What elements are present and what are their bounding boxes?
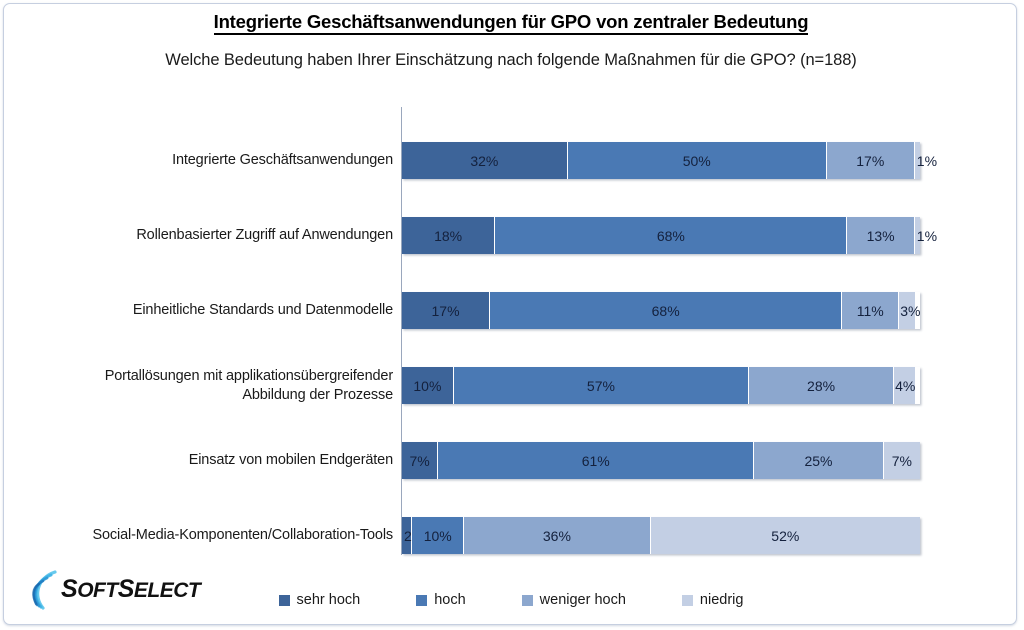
bar-segment[interactable]: 1% [915, 142, 920, 179]
chart-category-row: Integrierte Geschäftsanwendungen32%50%17… [4, 117, 1018, 192]
stacked-bar[interactable]: 10%57%28%4% [402, 367, 920, 404]
bar-value-label: 10% [413, 378, 441, 394]
category-label-line: Social-Media-Komponenten/Collaboration-T… [23, 526, 393, 545]
category-label: Einsatz von mobilen Endgeräten [23, 451, 393, 470]
bar-value-label: 3% [900, 303, 920, 319]
stacked-bar[interactable]: 17%68%11%3% [402, 292, 920, 329]
bar-value-label: 13% [867, 228, 895, 244]
bar-value-label: 7% [892, 453, 912, 469]
legend-label: sehr hoch [297, 592, 361, 608]
bar-segment[interactable]: 2% [402, 517, 412, 554]
legend-label: weniger hoch [540, 592, 626, 608]
bar-segment[interactable]: 10% [412, 517, 464, 554]
stacked-bar[interactable]: 32%50%17%1% [402, 142, 920, 179]
bar-segment[interactable]: 52% [651, 517, 920, 554]
bar-segment[interactable]: 3% [899, 292, 915, 329]
bar-segment[interactable]: 17% [402, 292, 490, 329]
legend-item[interactable]: niedrig [682, 592, 744, 608]
bar-value-label: 28% [807, 378, 835, 394]
bar-segment[interactable]: 1% [915, 217, 920, 254]
category-label-line: Portallösungen mit applikationsübergreif… [23, 367, 393, 386]
bar-segment[interactable]: 68% [490, 292, 842, 329]
bar-value-label: 25% [804, 453, 832, 469]
bar-segment[interactable]: 28% [749, 367, 894, 404]
category-label: Integrierte Geschäftsanwendungen [23, 151, 393, 170]
legend-item[interactable]: sehr hoch [279, 592, 361, 608]
logo-wordmark: SOFTSELECT [61, 575, 200, 604]
plot-area: Integrierte Geschäftsanwendungen32%50%17… [4, 4, 1018, 626]
chart-category-row: Einsatz von mobilen Endgeräten7%61%25%7% [4, 417, 1018, 492]
bar-segment[interactable]: 17% [827, 142, 915, 179]
chart-category-row: Einheitliche Standards und Datenmodelle1… [4, 267, 1018, 342]
bar-segment[interactable]: 18% [402, 217, 495, 254]
legend-swatch-icon [416, 595, 427, 606]
bar-segment[interactable]: 7% [402, 442, 438, 479]
bar-segment[interactable]: 7% [884, 442, 920, 479]
bar-value-label: 32% [470, 153, 498, 169]
legend-swatch-icon [682, 595, 693, 606]
stacked-bar[interactable]: 18%68%13%1% [402, 217, 920, 254]
bar-segment[interactable]: 50% [568, 142, 827, 179]
bar-segment[interactable]: 4% [894, 367, 915, 404]
category-label-line: Einsatz von mobilen Endgeräten [23, 451, 393, 470]
bar-value-label: 17% [432, 303, 460, 319]
category-label-line: Integrierte Geschäftsanwendungen [23, 151, 393, 170]
chart-frame: Integrierte Geschäftsanwendungen für GPO… [3, 3, 1017, 625]
bar-value-label: 10% [424, 528, 452, 544]
legend-item[interactable]: hoch [416, 592, 465, 608]
category-label: Portallösungen mit applikationsübergreif… [23, 367, 393, 405]
category-label: Rollenbasierter Zugriff auf Anwendungen [23, 226, 393, 245]
chart-category-row: Social-Media-Komponenten/Collaboration-T… [4, 492, 1018, 567]
bar-value-label: 68% [657, 228, 685, 244]
bar-segment[interactable]: 68% [495, 217, 847, 254]
bar-segment[interactable]: 13% [847, 217, 914, 254]
bar-value-label: 1% [917, 228, 937, 244]
bar-value-label: 1% [917, 153, 937, 169]
legend-swatch-icon [522, 595, 533, 606]
bar-segment[interactable]: 57% [454, 367, 749, 404]
bar-segment[interactable]: 61% [438, 442, 754, 479]
chart-category-row: Rollenbasierter Zugriff auf Anwendungen1… [4, 192, 1018, 267]
category-label-line: Abbildung der Prozesse [23, 386, 393, 405]
bar-segment[interactable]: 32% [402, 142, 568, 179]
bar-value-label: 57% [587, 378, 615, 394]
stacked-bar[interactable]: 2%10%36%52% [402, 517, 920, 554]
bar-value-label: 61% [582, 453, 610, 469]
bar-value-label: 36% [543, 528, 571, 544]
bar-value-label: 52% [771, 528, 799, 544]
legend-label: hoch [434, 592, 465, 608]
bar-segment[interactable]: 10% [402, 367, 454, 404]
bar-value-label: 68% [652, 303, 680, 319]
bar-value-label: 11% [857, 303, 884, 319]
legend-label: niedrig [700, 592, 744, 608]
category-label: Einheitliche Standards und Datenmodelle [23, 301, 393, 320]
stacked-bar[interactable]: 7%61%25%7% [402, 442, 920, 479]
bar-segment[interactable]: 11% [842, 292, 899, 329]
bar-value-label: 4% [895, 378, 915, 394]
bar-value-label: 7% [410, 453, 430, 469]
chart-category-row: Portallösungen mit applikationsübergreif… [4, 342, 1018, 417]
legend-item[interactable]: weniger hoch [522, 592, 626, 608]
bar-segment[interactable]: 36% [464, 517, 650, 554]
bar-segment[interactable]: 25% [754, 442, 884, 479]
bar-value-label: 18% [434, 228, 462, 244]
softselect-logo: SOFTSELECT [21, 566, 191, 614]
category-label: Social-Media-Komponenten/Collaboration-T… [23, 526, 393, 545]
legend-swatch-icon [279, 595, 290, 606]
bar-value-label: 17% [856, 153, 884, 169]
category-label-line: Einheitliche Standards und Datenmodelle [23, 301, 393, 320]
bar-value-label: 50% [683, 153, 711, 169]
category-label-line: Rollenbasierter Zugriff auf Anwendungen [23, 226, 393, 245]
